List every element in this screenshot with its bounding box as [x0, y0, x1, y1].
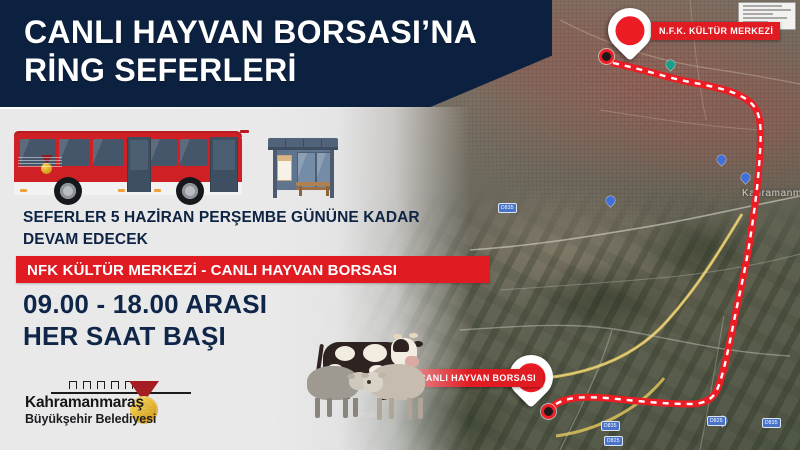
service-hours-line2: HER SAAT BAŞI	[23, 321, 226, 352]
bus-logo-microtext	[18, 157, 62, 167]
bus-marker-light	[118, 189, 125, 192]
municipality-logo: Kahramanmaraş Büyükşehir Belediyesi	[25, 381, 185, 433]
municipality-name: Kahramanmaraş	[25, 394, 144, 412]
sheep-ear	[347, 374, 355, 379]
bus-marker-light	[154, 189, 161, 192]
service-hours-line1: 09.00 - 18.00 ARASI	[23, 289, 267, 320]
sheep-eye	[367, 380, 371, 384]
page-title-line1: CANLI HAYVAN BORSASI’NA	[24, 14, 477, 50]
sheep-ear	[378, 373, 386, 378]
route-start-stop-node[interactable]	[599, 49, 614, 64]
info-text-line2: DEVAM EDECEK	[23, 231, 148, 249]
sheep-leg	[315, 398, 320, 418]
sheep-ear	[361, 373, 369, 378]
sheep-leg	[353, 398, 358, 417]
marker-pin-dot	[616, 16, 645, 45]
bus-marker-light	[20, 189, 27, 192]
route-name-banner: NFK KÜLTÜR MERKEZİ - CANLI HAYVAN BORSAS…	[16, 256, 490, 283]
page-title-line2: RİNG SEFERLERİ	[24, 51, 477, 89]
sheep-leg	[389, 398, 394, 419]
sheep-leg	[343, 398, 348, 418]
shelter-post	[330, 150, 334, 198]
shelter-post	[273, 150, 277, 198]
municipality-subtitle: Büyükşehir Belediyesi	[25, 412, 156, 426]
panel-top-divider	[0, 107, 430, 109]
page-title: CANLI HAYVAN BORSASI’NA RİNG SEFERLERİ	[24, 13, 477, 89]
bus-window	[93, 139, 124, 166]
route-name-banner-text: NFK KÜLTÜR MERKEZİ - CANLI HAYVAN BORSAS…	[27, 262, 397, 279]
bus-door-rear	[210, 137, 238, 192]
sheep-leg	[377, 398, 382, 420]
cow-horn	[409, 333, 418, 338]
info-text-line1: SEFERLER 5 HAZİRAN PERŞEMBE GÜNÜNE KADAR	[23, 209, 420, 227]
cow-and-sheep-illustration	[305, 330, 435, 425]
bus-door-front	[127, 137, 151, 192]
marker-label-nfk-kultur-merkezi[interactable]: N.F.K. KÜLTÜR MERKEZİ	[651, 22, 780, 40]
shelter-info-poster	[277, 155, 292, 181]
bus-stop-shelter-illustration	[268, 138, 338, 203]
city-bus-illustration	[14, 127, 254, 205]
route-end-stop-node[interactable]	[541, 404, 556, 419]
cow-patch	[363, 344, 387, 362]
bus-mirror	[240, 130, 249, 133]
sheep-leg	[418, 398, 423, 419]
bus-wheel-rear	[176, 177, 204, 205]
bus-wheel-front	[54, 177, 82, 205]
sheep-right	[363, 364, 429, 422]
poster-root: D835 D825 D835 D825 D835 Kahramanmaraş P…	[0, 0, 800, 450]
bus-window	[150, 139, 177, 166]
sheep-leg	[327, 398, 332, 417]
sheep-leg	[407, 398, 412, 420]
bus-window	[180, 139, 207, 166]
cow-patch	[335, 346, 355, 361]
shelter-bench-leg	[326, 186, 329, 196]
shelter-roof	[268, 138, 338, 149]
shelter-bench-leg	[299, 186, 302, 196]
bus-window	[59, 139, 90, 166]
